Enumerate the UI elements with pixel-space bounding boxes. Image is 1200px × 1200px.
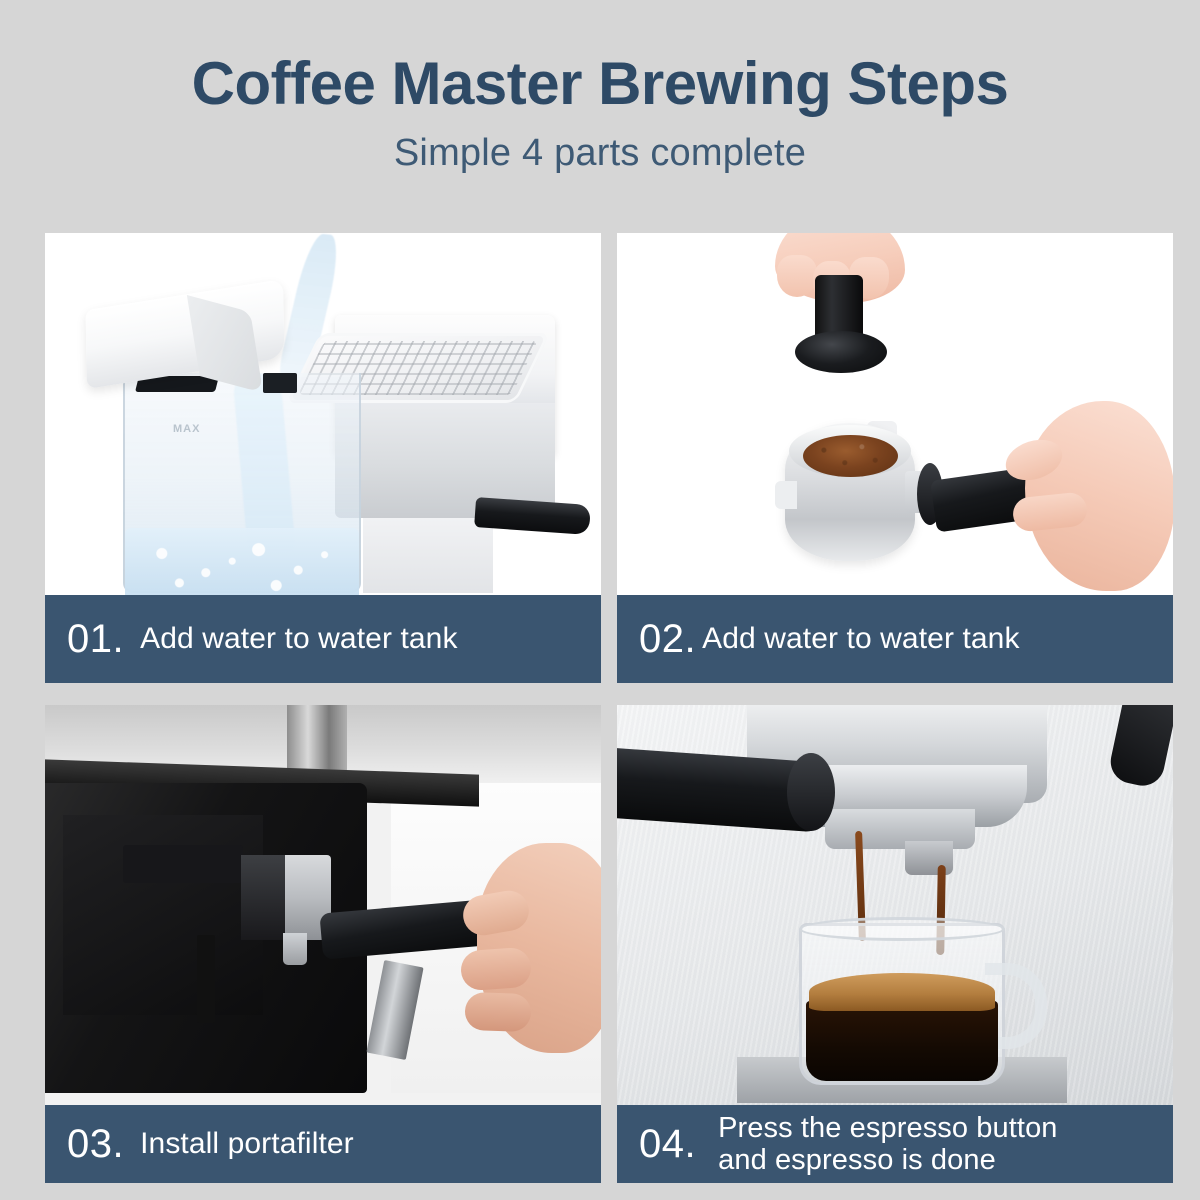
infographic-page: Coffee Master Brewing Steps Simple 4 par…: [0, 0, 1200, 1200]
step-01-caption: 01. Add water to water tank: [45, 595, 601, 683]
step-02-photo: [617, 233, 1173, 595]
tank-seal-right: [263, 373, 297, 393]
page-title: Coffee Master Brewing Steps: [0, 52, 1200, 116]
ground-coffee-texture: [803, 435, 898, 477]
step-01-photo: MAX: [45, 233, 601, 595]
tamper-finger-1: [777, 255, 817, 297]
step-01-number: 01.: [67, 619, 124, 659]
steps-grid: MAX 01. Add water to water tank: [45, 233, 1157, 1161]
page-subtitle: Simple 4 parts complete: [0, 132, 1200, 175]
step-04-caption: 04. Press the espresso buttonand espress…: [617, 1105, 1173, 1183]
step-03-text: Install portafilter: [140, 1127, 354, 1161]
portafilter-ear-left: [775, 481, 797, 509]
install-portafilter-illustration: [45, 705, 601, 1105]
portafilter-spout: [905, 841, 953, 875]
page-header: Coffee Master Brewing Steps Simple 4 par…: [0, 0, 1200, 175]
step-03-caption: 03. Install portafilter: [45, 1105, 601, 1183]
group-head-shadow: [241, 855, 285, 940]
water-tank-illustration: MAX: [45, 233, 601, 595]
espresso-pour-illustration: [617, 705, 1173, 1105]
step-02-number: 02.: [639, 619, 696, 659]
step-04-text: Press the espresso buttonand espresso is…: [718, 1112, 1057, 1177]
step-card-01[interactable]: MAX 01. Add water to water tank: [45, 233, 601, 683]
cup-rim: [799, 917, 1005, 941]
hand-finger-2: [460, 947, 533, 992]
step-card-02[interactable]: 02. Add water to water tank: [617, 233, 1173, 683]
machine-recess-slot: [123, 845, 243, 883]
espresso-liquid: [806, 1001, 998, 1081]
tamper-base: [795, 331, 887, 373]
tamping-illustration: [617, 233, 1173, 595]
step-02-text: Add water to water tank: [702, 622, 1019, 656]
step-card-03[interactable]: 03. Install portafilter: [45, 705, 601, 1183]
espresso-crema: [809, 973, 995, 1011]
step-03-number: 03.: [67, 1124, 124, 1164]
water-bubbles: [131, 533, 351, 595]
step-03-photo: [45, 705, 601, 1105]
step-04-text-line2: and espresso is done: [718, 1144, 996, 1176]
machine-base-stand: [363, 518, 493, 593]
machine-vertical-bar: [197, 935, 215, 1023]
tank-max-label: MAX: [173, 423, 200, 435]
step-04-number: 04.: [639, 1124, 696, 1164]
step-card-04[interactable]: 04. Press the espresso buttonand espress…: [617, 705, 1173, 1183]
step-04-photo: [617, 705, 1173, 1105]
step-02-caption: 02. Add water to water tank: [617, 595, 1173, 683]
hand-finger-3: [464, 992, 531, 1032]
portafilter-collar: [787, 753, 835, 831]
step-04-text-line1: Press the espresso button: [718, 1112, 1057, 1144]
step-01-text: Add water to water tank: [140, 622, 457, 656]
group-head-spout: [283, 933, 307, 965]
